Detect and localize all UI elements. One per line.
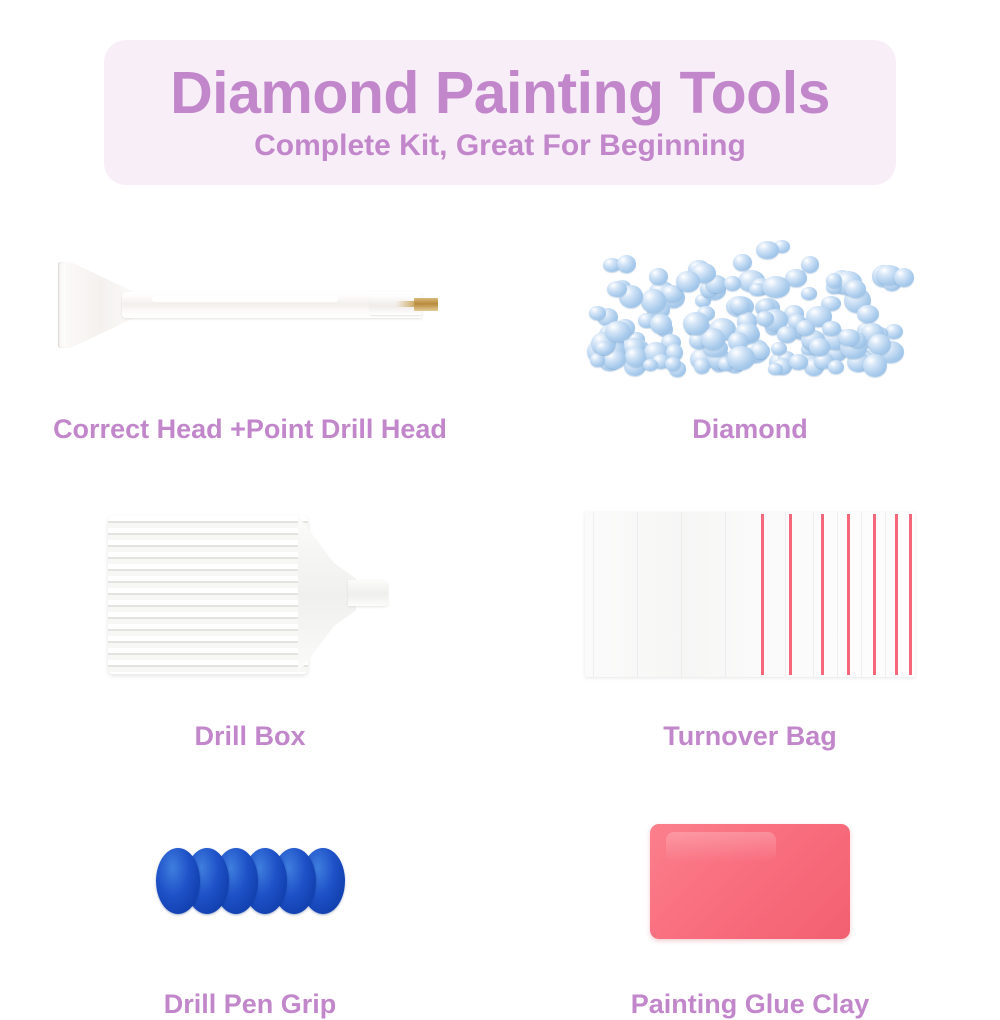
diamond-drill — [801, 256, 819, 273]
diamond-drill — [826, 273, 842, 288]
product-image-pen-grip — [40, 794, 460, 969]
diamond-drill — [801, 287, 816, 300]
diamond-drills-illustration — [585, 228, 915, 383]
product-image-glue-clay — [540, 794, 960, 969]
bag-fold-line — [725, 512, 726, 677]
bag-fold-line — [837, 512, 838, 677]
product-cell-correct-head: Correct Head +Point Drill Head — [0, 210, 500, 445]
diamond-drill — [777, 326, 797, 343]
bag-fold-line — [681, 512, 682, 677]
grip-segment — [156, 848, 200, 914]
product-caption: Diamond — [692, 414, 808, 445]
tray-handle — [348, 580, 388, 606]
bag-fold-line — [785, 512, 786, 677]
bag-fold-line — [637, 512, 638, 677]
turnover-bag-illustration — [585, 512, 915, 677]
bag-zip-stripe — [761, 514, 764, 675]
drill-tray-illustration — [100, 502, 400, 687]
product-cell-drill-box: Drill Box — [0, 479, 500, 752]
diamond-drill — [809, 338, 830, 356]
product-grid: Correct Head +Point Drill Head Diamond D… — [0, 210, 1000, 1020]
pen-grip-illustration — [150, 842, 350, 922]
diamond-drill — [894, 268, 914, 287]
bag-fold-line — [813, 512, 814, 677]
product-caption: Correct Head +Point Drill Head — [53, 414, 447, 445]
pen-gold-tip — [414, 298, 438, 311]
correction-pen-illustration — [50, 250, 450, 360]
product-image-correction-pen — [40, 210, 460, 400]
product-image-diamond — [540, 210, 960, 400]
product-caption: Drill Box — [194, 721, 305, 752]
diamond-drill — [595, 341, 612, 355]
product-cell-glue-clay: Painting Glue Clay — [500, 794, 1000, 1020]
diamond-drill — [617, 255, 636, 273]
grid-row: Drill Box Turnover Bag — [0, 479, 1000, 752]
diamond-drill — [641, 289, 666, 313]
diamond-drill — [863, 354, 887, 377]
diamond-drill — [727, 346, 754, 370]
bag-zip-stripe — [789, 514, 792, 675]
product-image-drill-box — [40, 479, 460, 709]
diamond-drill — [694, 358, 710, 373]
diamond-drill — [838, 329, 859, 346]
product-cell-diamond: Diamond — [500, 210, 1000, 445]
grid-row: Correct Head +Point Drill Head Diamond — [0, 210, 1000, 445]
diamond-drill — [607, 281, 627, 297]
diamond-drill — [868, 334, 891, 355]
diamond-drill — [771, 342, 787, 355]
pen-corrector-head-edge — [58, 262, 66, 348]
bag-fold-line — [593, 512, 594, 677]
tray-ribs — [108, 516, 308, 674]
page-title: Diamond Painting Tools — [170, 64, 830, 123]
glue-clay-illustration — [650, 824, 850, 939]
page-subtitle: Complete Kit, Great For Beginning — [254, 131, 746, 161]
diamond-drill — [762, 276, 790, 298]
bag-zip-stripe — [873, 514, 876, 675]
diamond-drill — [683, 312, 709, 335]
diamond-drill — [676, 271, 699, 293]
bag-fold-line — [885, 512, 886, 677]
product-caption: Painting Glue Clay — [631, 989, 870, 1020]
bag-fold-line — [861, 512, 862, 677]
product-cell-turnover-bag: Turnover Bag — [500, 479, 1000, 752]
grid-row: Drill Pen Grip Painting Glue Clay — [0, 794, 1000, 1020]
diamond-drill — [724, 276, 740, 291]
header-banner: Diamond Painting Tools Complete Kit, Gre… — [104, 40, 896, 185]
product-image-turnover-bag — [540, 479, 960, 709]
bag-zip-stripe — [895, 514, 898, 675]
product-caption: Turnover Bag — [663, 721, 837, 752]
diamond-drill — [733, 254, 752, 271]
bag-zip-stripe — [909, 514, 912, 675]
bag-zip-stripe — [847, 514, 850, 675]
diamond-drill — [643, 359, 659, 371]
diamond-drill — [650, 314, 672, 334]
diamond-drill — [768, 363, 784, 375]
diamond-drill — [828, 360, 845, 374]
diamond-drill — [756, 241, 779, 259]
product-caption: Drill Pen Grip — [164, 989, 337, 1020]
diamond-drill — [857, 305, 879, 323]
bag-zip-stripe — [821, 514, 824, 675]
product-cell-pen-grip: Drill Pen Grip — [0, 794, 500, 1020]
